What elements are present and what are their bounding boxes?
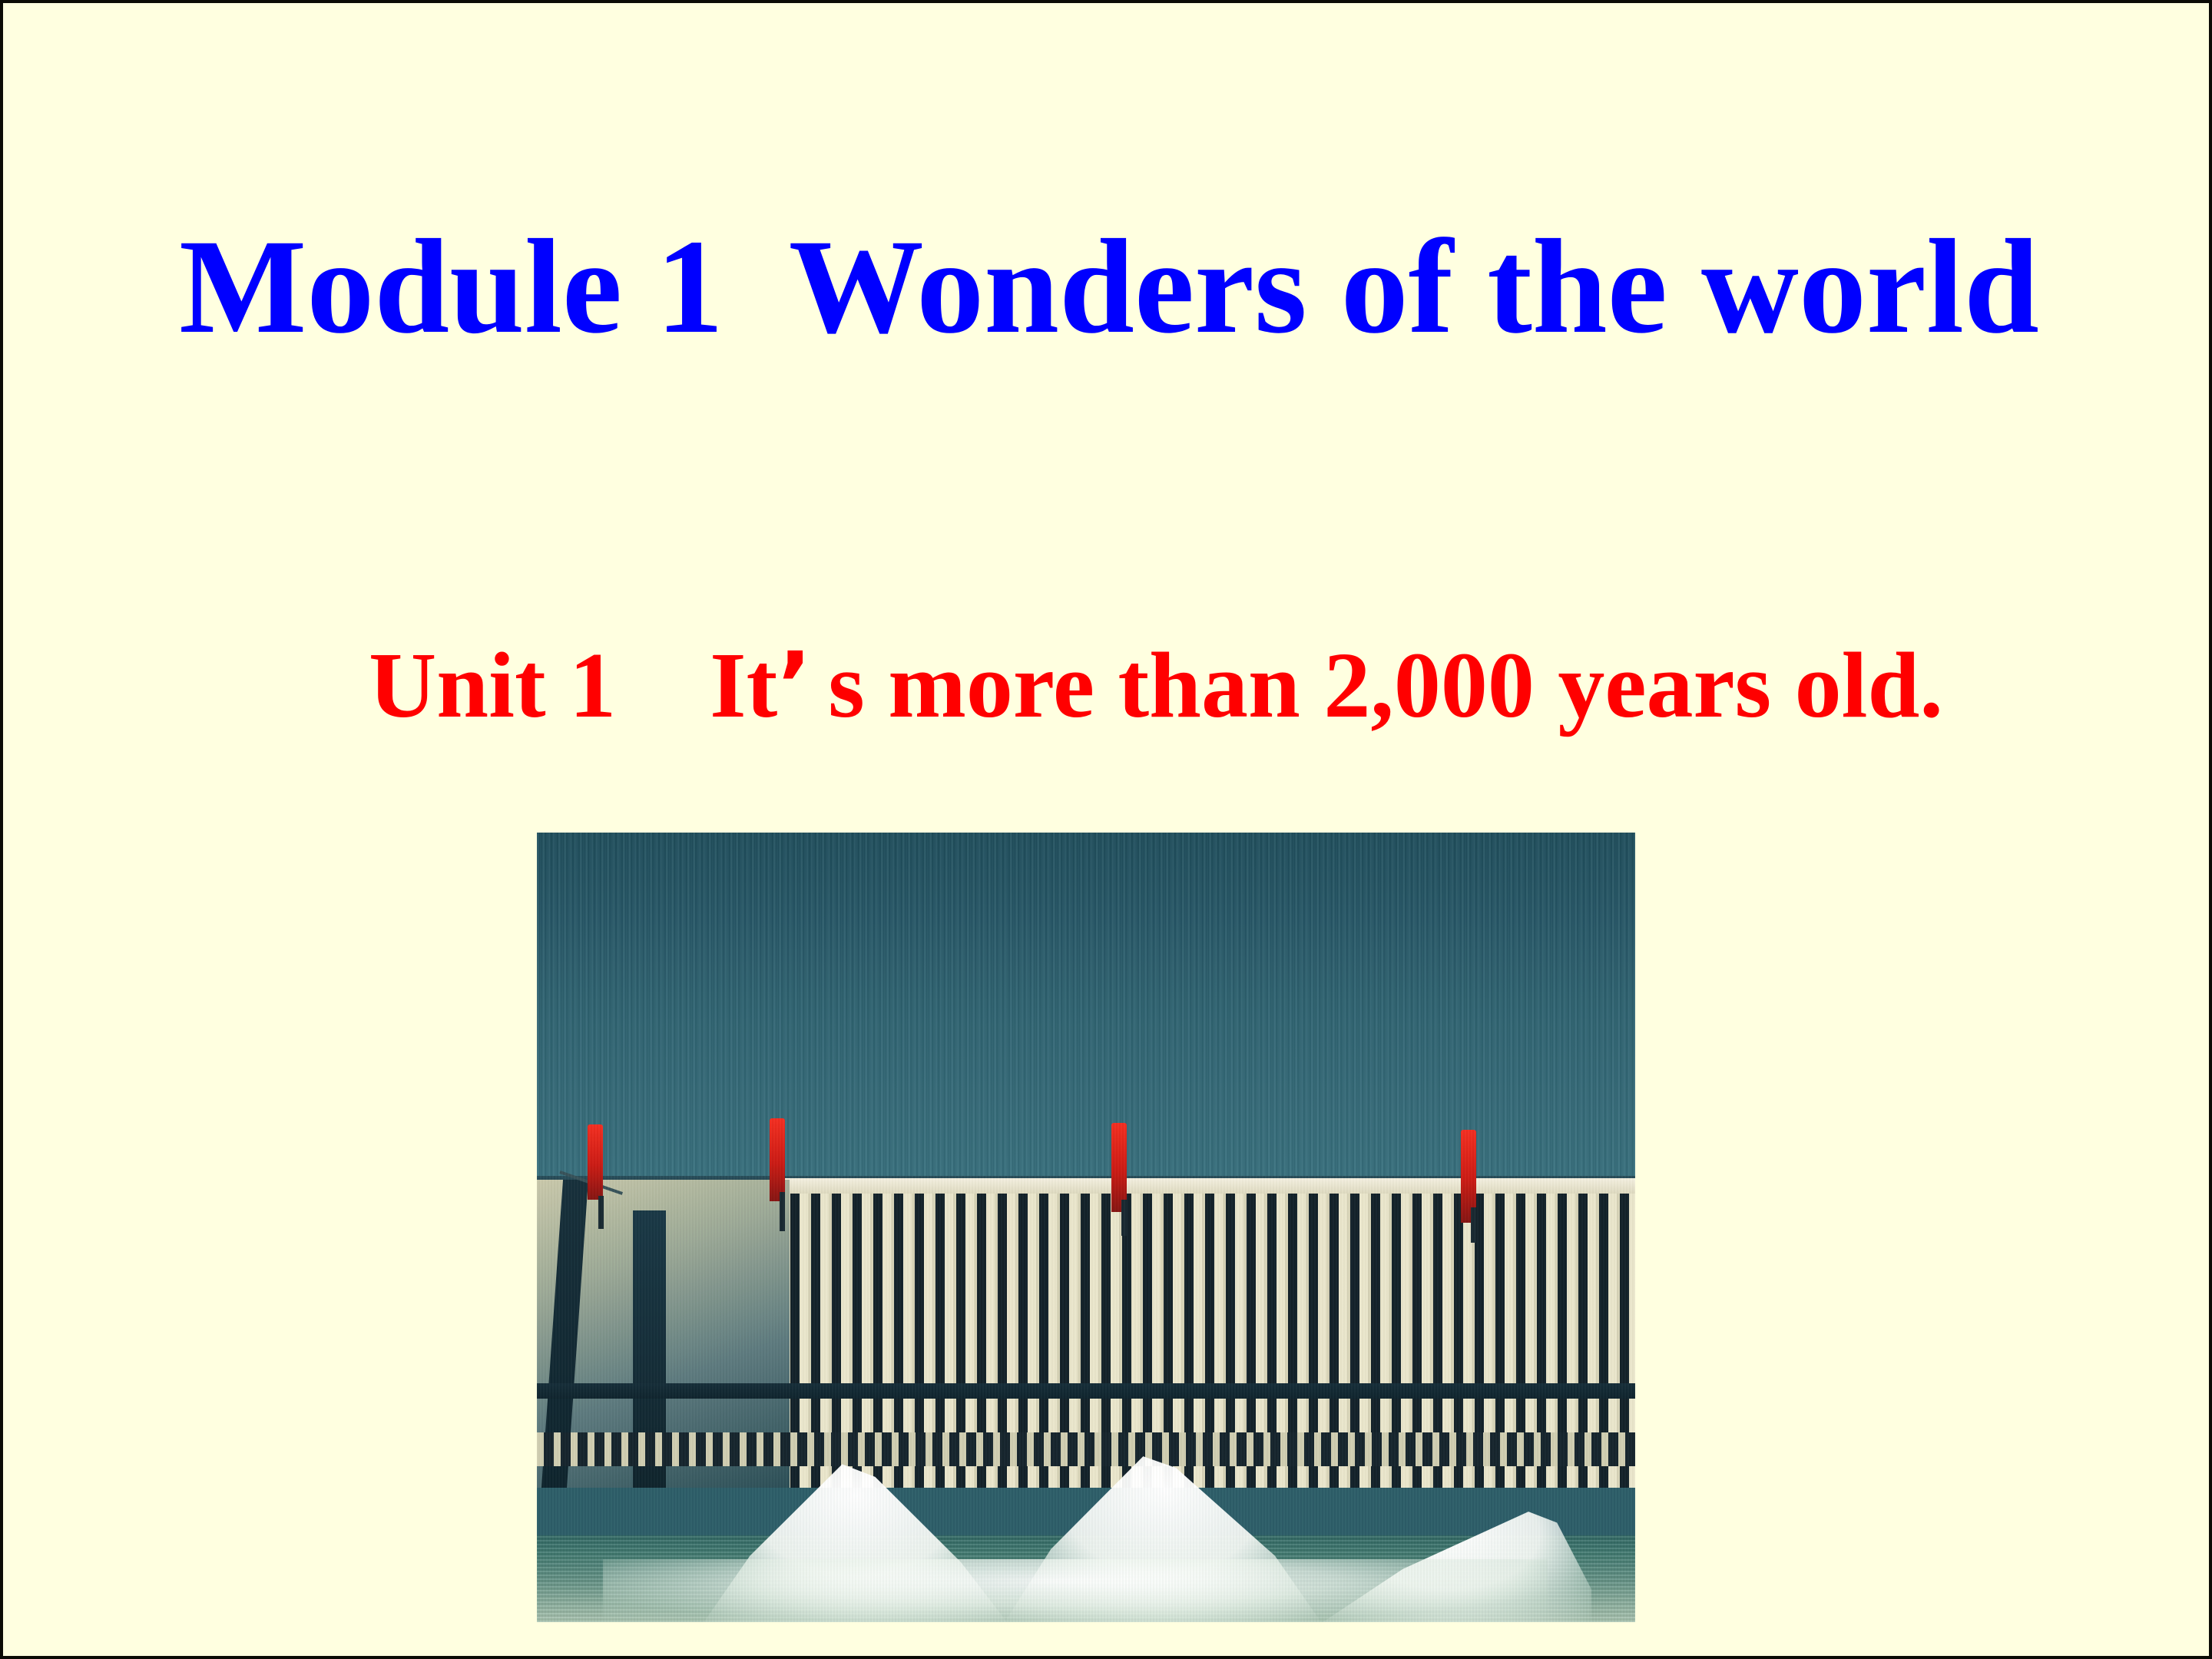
page-title: Module 1 Wonders of the world bbox=[3, 220, 2212, 355]
subtitle-suffix: s more than 2,000 years old. bbox=[828, 634, 1943, 737]
photo-dam-crest-road bbox=[779, 1178, 1635, 1194]
three-gorges-dam-photo bbox=[537, 833, 1635, 1622]
photo-tower-crane-3 bbox=[1111, 1123, 1127, 1212]
presentation-slide: Module 1 Wonders of the world Unit 1 It’… bbox=[0, 0, 2212, 1659]
photo-sky-water-upstream bbox=[537, 833, 1635, 1180]
photo-crane-mast-3 bbox=[1121, 1200, 1127, 1236]
photo-tower-crane-2 bbox=[770, 1118, 785, 1201]
apostrophe-glyph: ’ bbox=[777, 632, 828, 738]
photo-tower-crane-1 bbox=[588, 1124, 603, 1200]
photo-crane-mast-2 bbox=[780, 1192, 785, 1231]
subtitle-prefix: Unit 1 It bbox=[369, 634, 777, 737]
photo-crane-mast-4 bbox=[1471, 1207, 1476, 1242]
photo-lower-dark-band bbox=[537, 1383, 1635, 1399]
unit-subtitle: Unit 1 It’s more than 2,000 years old. bbox=[3, 545, 2212, 826]
photo-foam-bed bbox=[603, 1559, 1548, 1622]
photo-spillway-piers bbox=[537, 1432, 1635, 1466]
photo-crane-mast-1 bbox=[598, 1196, 604, 1229]
